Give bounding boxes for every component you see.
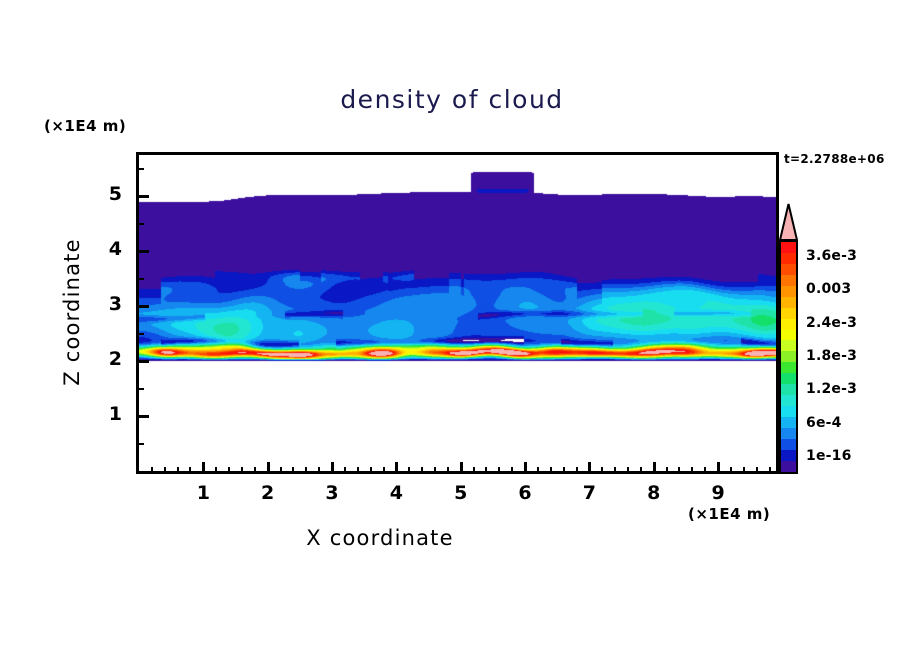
x-tick-label: 6 (505, 482, 545, 504)
x-tick-minor (370, 467, 372, 474)
x-tick-minor (318, 467, 320, 474)
y-tick-minor (136, 168, 144, 170)
colorbar-band (781, 461, 796, 472)
x-tick-major (588, 462, 591, 474)
x-tick-label: 1 (183, 482, 223, 504)
colorbar-tick-label: 1e-16 (806, 448, 852, 464)
x-tick-minor (550, 467, 552, 474)
y-tick-minor (136, 278, 144, 280)
x-tick-minor (189, 467, 191, 474)
x-tick-major (395, 462, 398, 474)
y-tick-major (136, 250, 149, 253)
colorbar-band (781, 351, 796, 362)
y-tick-major (136, 195, 149, 198)
x-tick-minor (498, 467, 500, 474)
x-tick-minor (640, 467, 642, 474)
colorbar-tick-label: 1.8e-3 (806, 348, 857, 364)
colorbar-tick-label: 6e-4 (806, 415, 842, 431)
x-tick-label: 5 (441, 482, 481, 504)
y-tick-minor (136, 333, 144, 335)
x-tick-minor (151, 467, 153, 474)
x-tick-minor (357, 467, 359, 474)
colorbar-band (781, 373, 796, 384)
colorbar-band (781, 308, 796, 319)
colorbar-band (781, 395, 796, 406)
x-tick-minor (563, 467, 565, 474)
colorbar-tick-label: 3.6e-3 (806, 248, 857, 264)
y-axis-unit-label: (×1E4 m) (44, 117, 126, 135)
colorbar (779, 240, 798, 474)
y-tick-minor (136, 388, 144, 390)
colorbar-band (781, 384, 796, 395)
x-axis-unit-label: (×1E4 m) (688, 505, 770, 523)
x-tick-minor (241, 467, 243, 474)
x-tick-minor (743, 467, 745, 474)
x-tick-major (331, 462, 334, 474)
colorbar-band (781, 330, 796, 341)
y-tick-major (136, 305, 149, 308)
x-tick-minor (704, 467, 706, 474)
y-axis-label: Z coordinate (60, 192, 84, 432)
x-tick-minor (730, 467, 732, 474)
x-tick-minor (756, 467, 758, 474)
x-tick-minor (344, 467, 346, 474)
colorbar-band (781, 340, 796, 351)
x-axis-label: X coordinate (0, 526, 760, 550)
colorbar-band (781, 319, 796, 330)
colorbar-band (781, 286, 796, 297)
colorbar-band (781, 428, 796, 439)
x-tick-major (267, 462, 270, 474)
x-tick-minor (473, 467, 475, 474)
y-tick-major (136, 360, 149, 363)
x-tick-minor (666, 467, 668, 474)
x-tick-minor (691, 467, 693, 474)
x-tick-label: 4 (376, 482, 416, 504)
x-tick-label: 3 (312, 482, 352, 504)
x-tick-minor (164, 467, 166, 474)
contour-field (139, 155, 776, 471)
x-tick-minor (434, 467, 436, 474)
x-tick-minor (305, 467, 307, 474)
y-tick-label: 5 (92, 183, 122, 205)
x-tick-minor (447, 467, 449, 474)
x-tick-label: 9 (698, 482, 738, 504)
colorbar-band (781, 406, 796, 417)
y-tick-minor (136, 223, 144, 225)
x-tick-major (202, 462, 205, 474)
x-tick-minor (254, 467, 256, 474)
colorbar-band (781, 439, 796, 450)
x-tick-minor (292, 467, 294, 474)
colorbar-band (781, 362, 796, 373)
x-tick-minor (485, 467, 487, 474)
chart-title: density of cloud (0, 85, 904, 114)
x-tick-minor (215, 467, 217, 474)
y-tick-minor (136, 443, 144, 445)
colorbar-band (781, 242, 796, 253)
x-tick-major (460, 462, 463, 474)
x-tick-major (717, 462, 720, 474)
x-tick-label: 7 (569, 482, 609, 504)
x-tick-minor (177, 467, 179, 474)
x-tick-minor (511, 467, 513, 474)
x-tick-minor (614, 467, 616, 474)
x-tick-minor (421, 467, 423, 474)
x-tick-minor (280, 467, 282, 474)
x-tick-minor (228, 467, 230, 474)
colorbar-arrow-tip (779, 203, 798, 241)
y-tick-label: 4 (92, 238, 122, 260)
x-tick-minor (408, 467, 410, 474)
colorbar-band (781, 417, 796, 428)
x-tick-minor (769, 467, 771, 474)
x-tick-label: 8 (634, 482, 674, 504)
x-tick-major (653, 462, 656, 474)
colorbar-tick-label: 1.2e-3 (806, 381, 857, 397)
colorbar-tick-label: 2.4e-3 (806, 315, 857, 331)
x-tick-minor (627, 467, 629, 474)
colorbar-band (781, 297, 796, 308)
colorbar-tick-label: 0.003 (806, 281, 851, 297)
y-tick-label: 1 (92, 403, 122, 425)
x-tick-minor (576, 467, 578, 474)
x-tick-minor (601, 467, 603, 474)
timestamp-label: t=2.2788e+06 (784, 152, 885, 166)
colorbar-band (781, 264, 796, 275)
y-tick-label: 2 (92, 348, 122, 370)
x-tick-minor (537, 467, 539, 474)
y-tick-major (136, 415, 149, 418)
y-tick-label: 3 (92, 293, 122, 315)
x-tick-major (524, 462, 527, 474)
colorbar-band (781, 450, 796, 461)
x-tick-minor (678, 467, 680, 474)
colorbar-band (781, 253, 796, 264)
x-tick-label: 2 (248, 482, 288, 504)
x-tick-minor (383, 467, 385, 474)
colorbar-band (781, 275, 796, 286)
